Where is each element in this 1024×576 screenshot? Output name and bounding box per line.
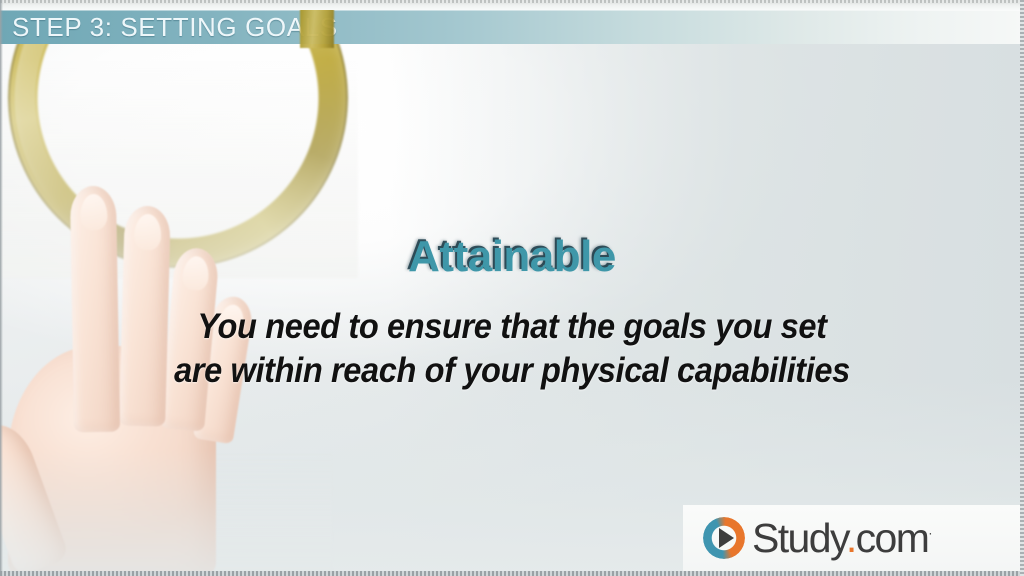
frame-edge-bottom: [0, 571, 1024, 576]
logo-trademark: ·: [928, 525, 932, 540]
body-copy-line-1: You need to ensure that the goals you se…: [36, 305, 988, 349]
logo-dot: .: [846, 515, 856, 561]
body-copy: You need to ensure that the goals you se…: [36, 305, 988, 393]
play-triangle-icon: [719, 528, 734, 548]
video-slide: STEP 3: SETTING GOALS Attainable You nee…: [0, 0, 1024, 576]
frame-edge-right: [1020, 0, 1024, 576]
logo-brand-first: Study: [752, 515, 846, 561]
step-banner-title: STEP 3: SETTING GOALS: [12, 11, 338, 43]
logo-brand-second: com: [856, 515, 929, 561]
play-circle-icon: [703, 517, 745, 559]
ring-segment-over-banner: [300, 8, 334, 48]
study-com-logo[interactable]: Study.com·: [683, 505, 1020, 571]
headline-attainable: Attainable: [0, 232, 1024, 282]
fingernail: [80, 194, 108, 230]
hand-bottom-fade: [0, 450, 332, 576]
frame-edge-left: [0, 0, 3, 576]
frame-edge-top: [0, 0, 1024, 10]
logo-wordmark: Study.com·: [752, 518, 933, 559]
body-copy-line-2: are within reach of your physical capabi…: [36, 349, 988, 393]
